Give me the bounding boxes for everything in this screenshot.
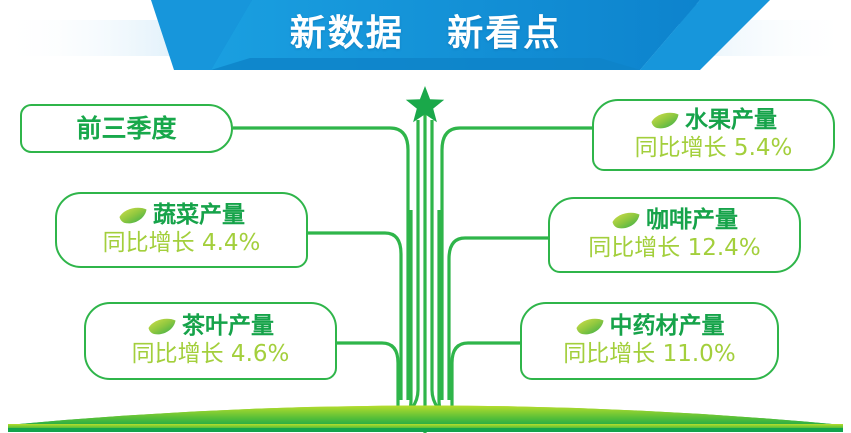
node-title-text: 水果产量 [685, 108, 777, 134]
node-metric-text: 同比增长 11.0% [563, 341, 735, 369]
node-title-text: 蔬菜产量 [153, 203, 245, 229]
node-title: 蔬菜产量 [118, 203, 245, 229]
node-tea-output[interactable]: 茶叶产量 同比增长 4.6% [84, 302, 337, 380]
branch-bottom-left [337, 343, 398, 412]
node-title: 中药材产量 [575, 314, 725, 340]
node-title-text: 咖啡产量 [646, 208, 738, 234]
node-title: 茶叶产量 [147, 314, 274, 340]
node-metric-text: 同比增长 4.6% [132, 341, 290, 369]
stem-left-inner [412, 120, 418, 408]
node-fruit-output[interactable]: 水果产量 同比增长 5.4% [592, 99, 835, 171]
page-title: 新数据 新看点 [0, 8, 851, 60]
ground-mound [8, 406, 843, 433]
node-herbal-medicine-output[interactable]: 中药材产量 同比增长 11.0% [520, 302, 779, 380]
stem-right-inner [432, 120, 438, 408]
node-title-text: 中药材产量 [610, 314, 725, 340]
node-metric-text: 同比增长 4.4% [103, 230, 261, 258]
leaf-icon [147, 317, 177, 336]
node-coffee-output[interactable]: 咖啡产量 同比增长 12.4% [548, 197, 801, 273]
node-title: 前三季度 [76, 115, 176, 143]
node-title-text: 前三季度 [76, 115, 176, 143]
node-title-text: 茶叶产量 [182, 314, 274, 340]
leaf-icon [650, 111, 680, 130]
node-title: 咖啡产量 [611, 208, 738, 234]
node-metric-text: 同比增长 5.4% [635, 135, 793, 163]
node-vegetable-output[interactable]: 蔬菜产量 同比增长 4.4% [55, 192, 308, 268]
node-period-label[interactable]: 前三季度 [20, 104, 233, 153]
node-metric-text: 同比增长 12.4% [588, 235, 760, 263]
node-title: 水果产量 [650, 108, 777, 134]
leaf-icon [575, 317, 605, 336]
infographic-canvas: 新数据 新看点 前三季度 水果产量 同比增长 5.4% 蔬菜产量 同比增长 4.… [0, 0, 851, 433]
branch-bottom-right [452, 343, 520, 412]
leaf-icon [118, 206, 148, 225]
leaf-icon [611, 211, 641, 230]
